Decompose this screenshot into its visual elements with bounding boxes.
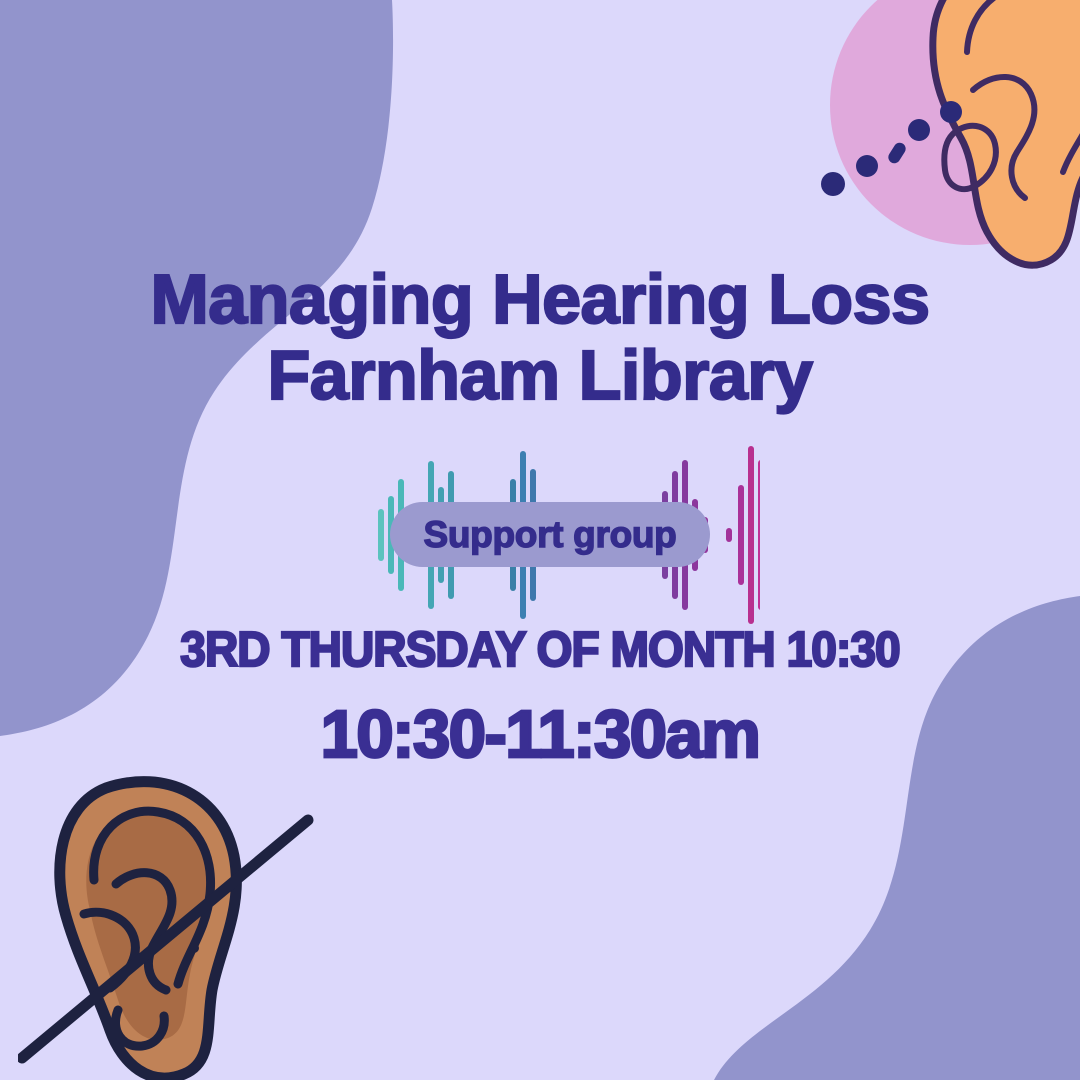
poster-headline: Managing Hearing Loss Farnham Library [0, 262, 1080, 413]
headline-line-2: Farnham Library [0, 338, 1080, 414]
waveform-bar [738, 485, 744, 585]
schedule-frequency-text: 3RD THURSDAY OF MONTH 10:30 [32, 622, 1047, 678]
waveform-bar [378, 509, 384, 561]
sound-dot-3 [856, 155, 878, 177]
headline-line-1: Managing Hearing Loss [0, 262, 1080, 338]
waveform-bar [748, 446, 754, 624]
ear-deaf-crossed-icon [18, 762, 328, 1080]
ear-listening-icon [795, 0, 1080, 290]
waveform-bar [758, 460, 760, 610]
support-group-badge-label: Support group [424, 514, 677, 556]
waveform-bar [726, 528, 732, 542]
sound-dot-2 [908, 119, 930, 141]
poster-canvas: Managing Hearing Loss Farnham Library Su… [0, 0, 1080, 1080]
waveform-badge-group: Support group [340, 440, 760, 630]
sound-dot-4 [821, 172, 845, 196]
support-group-badge: Support group [390, 502, 710, 567]
ear-dot-detail [189, 943, 199, 953]
sound-dot-1 [940, 101, 962, 123]
